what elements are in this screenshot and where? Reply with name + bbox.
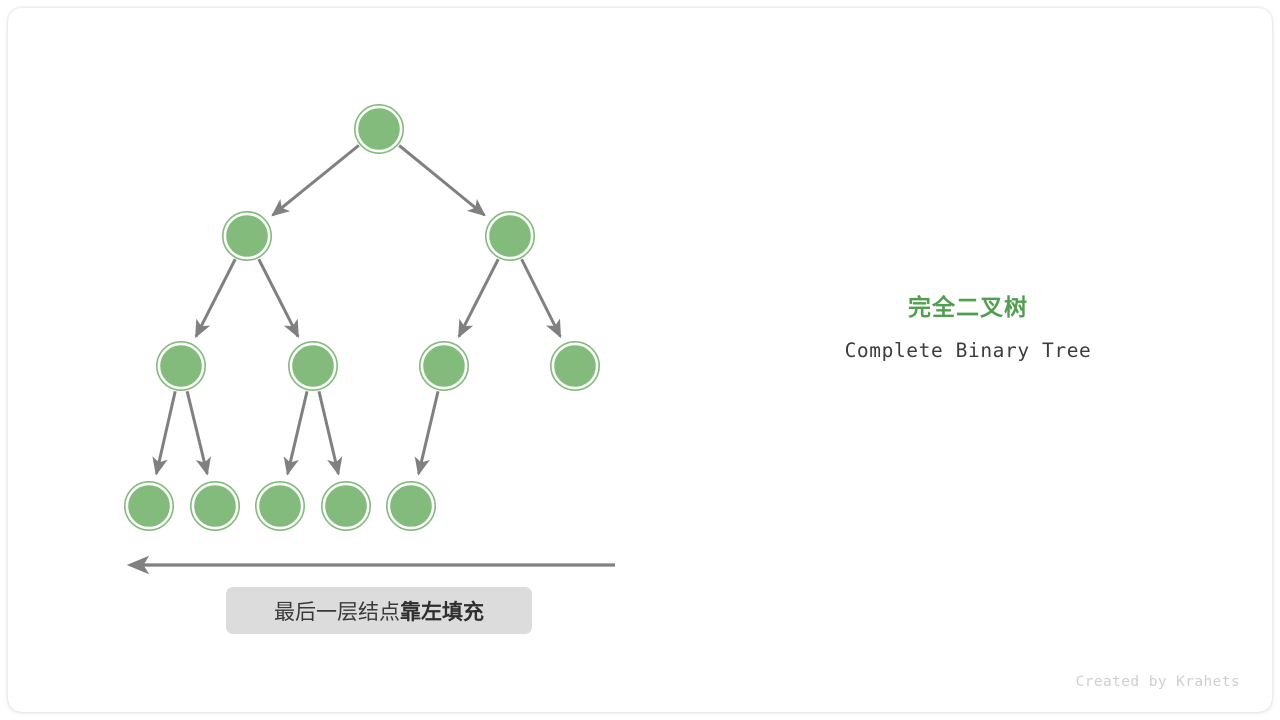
tree-node-body [488,214,531,257]
note-text-bold: 靠左填充 [400,601,484,624]
tree-node [256,482,304,530]
tree-node [125,482,173,530]
tree-node-body [127,484,170,527]
tree-node-body [553,344,596,387]
note-text-normal: 最后一层结点 [274,601,400,624]
tree-edge [156,391,175,473]
tree-node-body [357,107,400,150]
tree-edge [196,259,235,336]
tree-edge [288,391,307,474]
caption-title: 完全二叉树 [768,292,1168,322]
tree-node [551,342,599,390]
caption-block: 完全二叉树 Complete Binary Tree [768,292,1168,364]
tree-node-body [422,344,465,387]
tree-edge [259,259,298,336]
tree-edge [187,391,207,474]
tree-edge [522,259,561,336]
note-badge: 最后一层结点靠左填充 [226,587,532,634]
tree-node-body [324,484,367,527]
tree-edge [319,391,338,474]
tree-edge [459,259,498,336]
tree-node-body [193,484,236,527]
tree-node-body [258,484,301,527]
tree-node [157,342,205,390]
diagram-canvas: 完全二叉树 Complete Binary Tree 最后一层结点靠左填充 Cr… [0,0,1280,720]
watermark: Created by Krahets [1010,674,1240,690]
tree-nodes [125,105,599,530]
tree-node-body [389,484,432,527]
tree-edge [273,145,359,215]
note-badge-text: 最后一层结点靠左填充 [274,596,484,626]
tree-edge [399,145,484,215]
tree-node-body [159,344,202,387]
tree-node [191,482,239,530]
caption-subtitle: Complete Binary Tree [768,338,1168,364]
tree-node-body [291,344,334,387]
tree-node-body [225,214,268,257]
tree-node [289,342,337,390]
tree-node [486,212,534,260]
tree-edges [156,145,560,474]
tree-node [355,105,403,153]
tree-edge [419,391,438,474]
tree-node [223,212,271,260]
tree-node [322,482,370,530]
tree-node [420,342,468,390]
tree-node [387,482,435,530]
